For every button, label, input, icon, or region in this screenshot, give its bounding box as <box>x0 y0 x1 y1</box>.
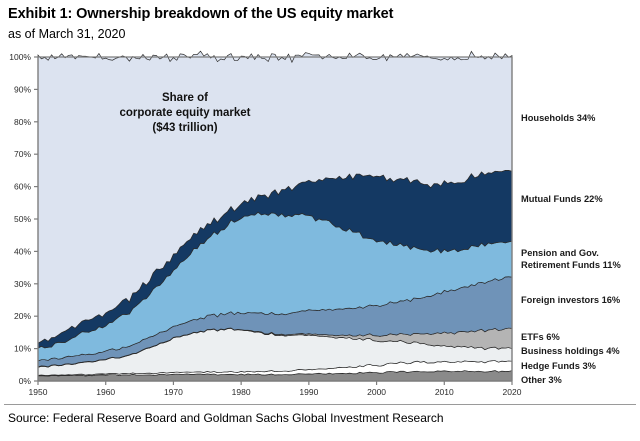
x-tick-label: 1980 <box>232 387 251 397</box>
series-label-pension-line2: Retirement Funds 11% <box>521 260 621 270</box>
x-tick-label: 1960 <box>96 387 115 397</box>
y-tick-label: 30% <box>14 279 31 289</box>
x-tick-label: 1950 <box>29 387 48 397</box>
series-label-other: Other 3% <box>521 375 563 385</box>
y-tick-label: 10% <box>14 344 31 354</box>
x-tick-label: 2010 <box>435 387 454 397</box>
annotation-line-1: Share of <box>162 92 208 104</box>
source-note: Source: Federal Reserve Board and Goldma… <box>8 411 444 425</box>
series-label-households: Households 34% <box>521 113 596 123</box>
stacked-area-chart: 0%10%20%30%40%50%60%70%80%90%100% 195019… <box>0 0 640 400</box>
y-tick-label: 70% <box>14 149 31 159</box>
y-axis-ticks: 0%10%20%30%40%50%60%70%80%90%100% <box>9 52 38 386</box>
series-label-foreign-investors: Foreign investors 16% <box>521 295 621 305</box>
area-series-group <box>38 51 512 381</box>
y-tick-label: 60% <box>14 182 31 192</box>
series-label-hedge-funds: Hedge Funds 3% <box>521 361 597 371</box>
series-label-pension-line1: Pension and Gov. <box>521 248 599 258</box>
series-label-etfs: ETFs 6% <box>521 332 560 342</box>
annotation-line-2: corporate equity market <box>119 107 250 119</box>
series-label-mutual-funds: Mutual Funds 22% <box>521 194 603 204</box>
annotation-line-3: ($43 trillion) <box>152 122 217 134</box>
source-divider <box>4 404 636 405</box>
x-tick-label: 1990 <box>299 387 318 397</box>
y-tick-label: 50% <box>14 214 31 224</box>
y-tick-label: 40% <box>14 246 31 256</box>
series-labels-group: Households 34% Mutual Funds 22% Pension … <box>521 113 621 385</box>
series-label-business-holdings: Business holdings 4% <box>521 346 620 356</box>
y-tick-label: 20% <box>14 311 31 321</box>
x-tick-label: 2000 <box>367 387 386 397</box>
y-tick-label: 90% <box>14 84 31 94</box>
exhibit-panel: Exhibit 1: Ownership breakdown of the US… <box>0 0 640 441</box>
x-tick-label: 2020 <box>503 387 522 397</box>
x-tick-label: 1970 <box>164 387 183 397</box>
x-axis-ticks: 19501960197019801990200020102020 <box>29 381 522 397</box>
y-tick-label: 80% <box>14 117 31 127</box>
y-tick-label: 100% <box>9 52 31 62</box>
y-tick-label: 0% <box>19 376 32 386</box>
